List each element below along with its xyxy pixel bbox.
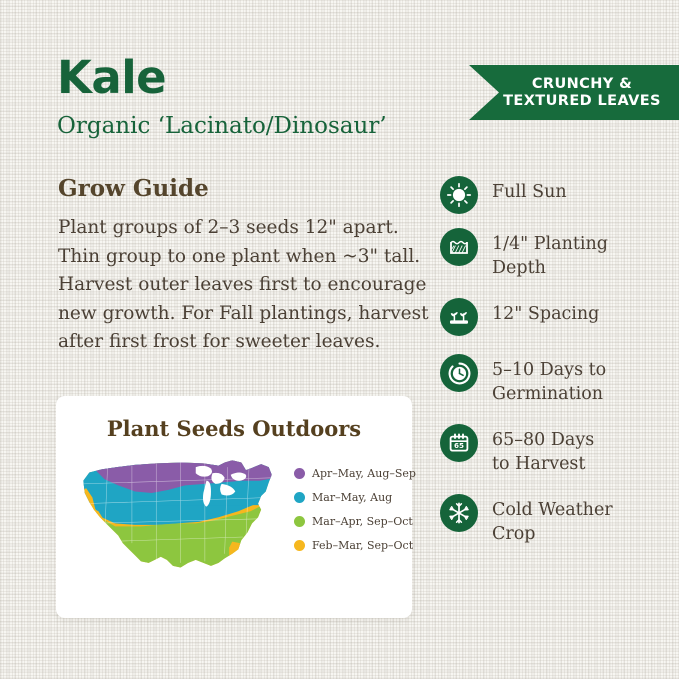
calendar-badge-number: 65 bbox=[454, 441, 464, 450]
spacing-icon bbox=[440, 298, 478, 336]
map-legend: Apr–May, Aug–Sep Mar–May, Aug Mar–Apr, S… bbox=[290, 467, 416, 563]
map-card-body: Apr–May, Aug–Sep Mar–May, Aug Mar–Apr, S… bbox=[56, 441, 412, 583]
legend-label: Mar–May, Aug bbox=[312, 491, 392, 504]
spec-row-germination: 5–10 Days to Germination bbox=[440, 354, 679, 406]
spec-row-cold-weather: Cold Weather Crop bbox=[440, 494, 679, 546]
feature-ribbon-label: CRUNCHY & TEXTURED LEAVES bbox=[469, 76, 679, 110]
planting-depth-icon bbox=[440, 228, 478, 266]
map-zone-bands bbox=[62, 447, 290, 582]
feature-ribbon-banner: CRUNCHY & TEXTURED LEAVES bbox=[469, 65, 679, 120]
spec-row-spacing: 12" Spacing bbox=[440, 298, 679, 336]
legend-item: Apr–May, Aug–Sep bbox=[294, 467, 416, 480]
legend-item: Mar–May, Aug bbox=[294, 491, 416, 504]
legend-item: Mar–Apr, Sep–Oct bbox=[294, 515, 416, 528]
spec-label-full-sun: Full Sun bbox=[492, 176, 567, 204]
legend-dot-purple bbox=[294, 468, 305, 479]
spec-label-spacing: 12" Spacing bbox=[492, 298, 599, 326]
title-block: Kale Organic ‘Lacinato/Dinosaur’ bbox=[57, 52, 457, 141]
grow-guide-section: Grow Guide Plant groups of 2–3 seeds 12"… bbox=[58, 175, 433, 357]
spec-label-cold-weather: Cold Weather Crop bbox=[492, 494, 613, 546]
clock-icon bbox=[440, 354, 478, 392]
calendar-icon: 65 bbox=[440, 424, 478, 462]
legend-dot-teal bbox=[294, 492, 305, 503]
spec-row-full-sun: Full Sun bbox=[440, 176, 679, 214]
legend-dot-yellow bbox=[294, 540, 305, 551]
spec-row-harvest: 65 65–80 Days to Harvest bbox=[440, 424, 679, 476]
planting-map-card: Plant Seeds Outdoors bbox=[56, 396, 412, 618]
legend-label: Feb–Mar, Sep–Oct bbox=[312, 539, 413, 552]
spec-label-germination: 5–10 Days to Germination bbox=[492, 354, 606, 406]
grow-guide-heading: Grow Guide bbox=[58, 175, 433, 202]
us-planting-zone-map bbox=[62, 447, 290, 583]
page-title: Kale bbox=[57, 52, 457, 104]
map-card-title: Plant Seeds Outdoors bbox=[56, 416, 412, 441]
snowflake-icon bbox=[440, 494, 478, 532]
legend-dot-green bbox=[294, 516, 305, 527]
packet-subtitle: Organic ‘Lacinato/Dinosaur’ bbox=[57, 111, 457, 141]
legend-label: Apr–May, Aug–Sep bbox=[312, 467, 416, 480]
spec-label-harvest: 65–80 Days to Harvest bbox=[492, 424, 594, 476]
legend-label: Mar–Apr, Sep–Oct bbox=[312, 515, 413, 528]
spec-label-planting-depth: 1/4" Planting Depth bbox=[492, 228, 608, 280]
spec-list: Full Sun 1/4" Planting Depth bbox=[440, 176, 679, 560]
sun-icon bbox=[440, 176, 478, 214]
legend-item: Feb–Mar, Sep–Oct bbox=[294, 539, 416, 552]
grow-guide-body-text: Plant groups of 2–3 seeds 12" apart. Thi… bbox=[58, 214, 433, 357]
spec-row-planting-depth: 1/4" Planting Depth bbox=[440, 228, 679, 280]
